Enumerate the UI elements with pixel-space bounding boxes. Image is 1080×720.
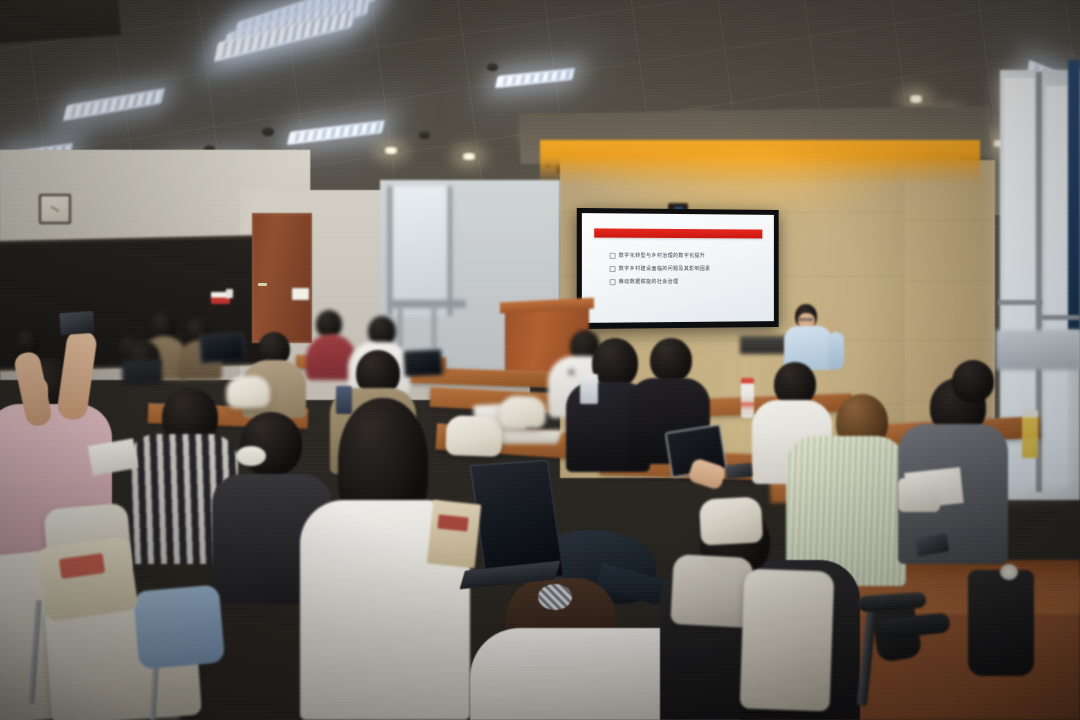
chair-back[interactable] (699, 496, 763, 545)
glasses-icon (798, 318, 813, 321)
handrail-post (432, 306, 436, 348)
cup (580, 374, 598, 404)
water-bottle (741, 378, 754, 418)
window-pane (1046, 86, 1068, 486)
window-frame-blue (1068, 60, 1080, 330)
presentation-display[interactable]: 数字化转型与乡村治理的数字化提升 数字乡村建设面临的问题及其影响因素 推动数据赋… (577, 208, 779, 329)
partition-frame (448, 186, 452, 316)
laptop-keyboard[interactable] (495, 430, 562, 444)
tumbler (336, 386, 352, 414)
drink-bottle (1022, 410, 1038, 458)
laptop-screen[interactable] (403, 349, 442, 377)
cream-bag (37, 536, 138, 622)
door-handle[interactable] (258, 283, 267, 286)
audience-head (240, 412, 302, 476)
laptop-screen[interactable] (122, 359, 163, 384)
hair-tie (538, 584, 572, 610)
chair-back[interactable] (225, 375, 270, 409)
seminar-room-photograph: 数字化转型与乡村治理的数字化提升 数字乡村建设面临的问题及其影响因素 推动数据赋… (0, 0, 1080, 720)
bullet-marker-icon (610, 253, 616, 259)
glass-partition (390, 186, 452, 316)
slide-bullet-text: 推动数据赋能的社会治理 (619, 279, 679, 285)
slide-bullet-list: 数字化转型与乡村治理的数字化提升 数字乡村建设面临的问题及其影响因素 推动数据赋… (610, 253, 756, 292)
slide-accent-bar (594, 229, 763, 239)
wall-notice (226, 289, 233, 298)
chair-back[interactable] (670, 554, 754, 628)
window-sill (996, 330, 1080, 370)
display-stand (740, 336, 790, 354)
audience-head (952, 360, 994, 402)
chair-back[interactable] (499, 395, 546, 429)
smartphone[interactable] (59, 311, 94, 335)
list-item: 数字乡村建设面临的问题及其影响因素 (610, 266, 756, 272)
door-sign (292, 288, 309, 300)
ceiling-speaker (262, 127, 274, 136)
bag-logo (437, 514, 468, 531)
list-item: 推动数据赋能的社会治理 (610, 279, 756, 285)
laptop-screen[interactable] (199, 332, 245, 363)
smartphone[interactable] (725, 463, 752, 480)
window-transom (998, 300, 1042, 305)
bullet-marker-icon (610, 266, 616, 272)
slide-bullet-text: 数字化转型与乡村治理的数字化提升 (619, 253, 705, 259)
chair-back[interactable] (445, 415, 502, 457)
recessed-downlight (381, 147, 401, 154)
list-item: 数字化转型与乡村治理的数字化提升 (610, 253, 756, 259)
bullet-marker-icon (610, 279, 616, 285)
wall-clock (39, 194, 71, 224)
tote-bag (898, 478, 940, 512)
handrail-post (398, 306, 402, 350)
recessed-downlight (459, 153, 479, 160)
slide-surface: 数字化转型与乡村治理的数字化提升 数字乡村建设面临的问题及其影响因素 推动数据赋… (582, 213, 774, 323)
ceiling-speaker (419, 131, 430, 139)
chair-back[interactable] (740, 568, 835, 711)
slide-bullet-text: 数字乡村建设面临的问题及其影响因素 (619, 266, 711, 272)
paper-bag (427, 500, 481, 569)
presenter-arm (828, 332, 844, 370)
shirt-letter: R (568, 368, 577, 379)
ceiling-speaker (487, 63, 498, 71)
partition-frame (388, 186, 392, 316)
door[interactable] (252, 213, 312, 343)
backpack (968, 570, 1034, 676)
audience-head (650, 338, 692, 382)
recessed-downlight (906, 95, 926, 103)
window-transom (1040, 315, 1080, 320)
denim-bag (133, 584, 225, 669)
bag-charm (1000, 564, 1018, 580)
audience-head (592, 338, 638, 388)
hair-scrunchie (236, 446, 266, 466)
